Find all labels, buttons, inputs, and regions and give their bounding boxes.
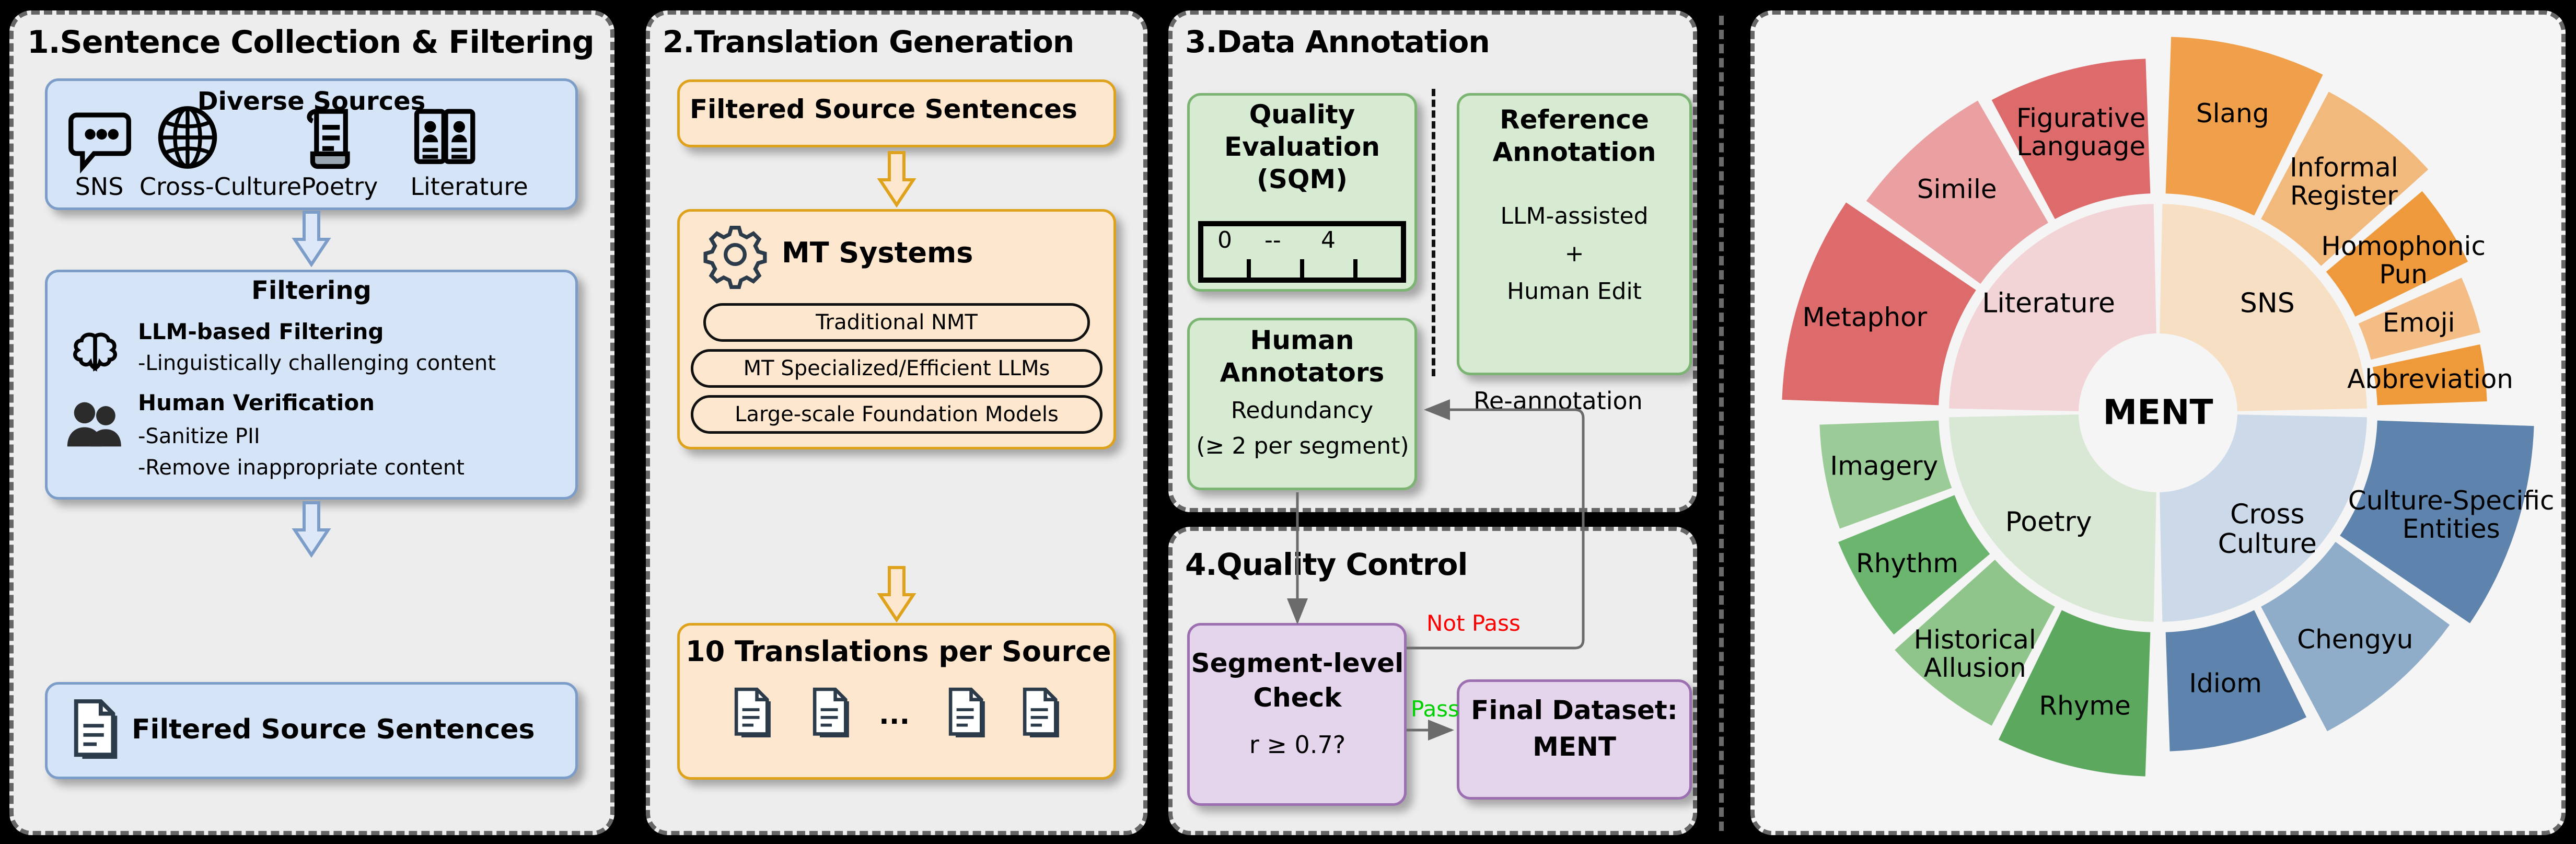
filtered-source-output-label: Filtered Source Sentences xyxy=(132,714,535,745)
reference-annotation-heading-0: Reference xyxy=(1457,105,1692,135)
document-icon-3 xyxy=(1018,686,1066,741)
sqm-scale-max: 4 xyxy=(1321,227,1336,253)
arrow-input-to-mt xyxy=(876,151,918,208)
quality-evaluation-heading-2: (SQM) xyxy=(1187,164,1417,194)
section-divider xyxy=(1719,16,1724,831)
sqm-scale-min: 0 xyxy=(1217,227,1232,253)
document-icon-2 xyxy=(944,686,992,741)
reference-annotation-body-0: LLM-assisted xyxy=(1457,203,1692,229)
mt-systems-heading: MT Systems xyxy=(782,236,973,269)
documents-icon xyxy=(68,697,125,763)
human-annotators-heading-0: Human xyxy=(1187,325,1417,355)
quality-evaluation-heading-0: Quality xyxy=(1187,99,1417,130)
sunburst-center-label: MENT xyxy=(2103,392,2213,432)
human-annotators-heading-1: Annotators xyxy=(1187,357,1417,388)
arrow-sources-to-filtering xyxy=(291,210,332,268)
sunburst-outer-label-10: Rhythm xyxy=(1856,548,1958,578)
sunburst-outer-label-7: Idiom xyxy=(2189,668,2262,698)
reference-annotation-body-2: Human Edit xyxy=(1457,278,1692,305)
arrow-filtering-to-output xyxy=(291,501,332,558)
human-verification-bullet-0: -Sanitize PII xyxy=(138,424,260,448)
source-label-literature: Literature xyxy=(396,172,542,201)
mt-system-pill-1[interactable]: MT Specialized/Efficient LLMs xyxy=(691,349,1103,388)
brain-icon xyxy=(71,332,119,377)
sunburst-inner-label-1: CrossCulture xyxy=(2218,499,2317,560)
sunburst-outer-label-12: Metaphor xyxy=(1803,302,1928,332)
human-verification-bullet-1: -Remove inappropriate content xyxy=(138,456,465,480)
panel-3-title: 3.Data Annotation xyxy=(1185,24,1490,60)
filtering-heading: Filtering xyxy=(251,278,372,304)
human-annotators-body-0: Redundancy xyxy=(1187,397,1417,424)
quality-evaluation-heading-1: Evaluation xyxy=(1187,132,1417,162)
reference-annotation-heading-1: Annotation xyxy=(1457,137,1692,167)
edge-label-pass: Pass xyxy=(1411,696,1459,722)
sunburst-inner-label-3: Literature xyxy=(1982,287,2115,319)
sunburst-outer-label-6: Chengyu xyxy=(2297,624,2413,654)
translations-ellipsis: ... xyxy=(879,699,910,731)
mt-system-pill-2[interactable]: Large-scale Foundation Models xyxy=(691,395,1103,434)
open-book-icon xyxy=(413,106,479,169)
sunburst-outer-label-8: Rhyme xyxy=(2039,690,2131,721)
human-verification-title: Human Verification xyxy=(138,390,375,415)
mt-system-pill-0[interactable]: Traditional NMT xyxy=(703,303,1090,342)
people-icon xyxy=(65,400,127,448)
reference-annotation-card xyxy=(1457,93,1692,375)
sunburst-chart: SNSCrossCulturePoetryLiteratureSlangInfo… xyxy=(1756,16,2560,831)
annotation-divider xyxy=(1432,89,1435,376)
source-label-sns: SNS xyxy=(57,172,141,201)
translation-input-label: Filtered Source Sentences xyxy=(690,94,1077,124)
panel-1-title: 1.Sentence Collection & Filtering xyxy=(27,24,594,61)
edge-label-not-pass: Not Pass xyxy=(1426,610,1521,636)
sunburst-inner-label-2: Poetry xyxy=(2005,506,2092,538)
globe-icon xyxy=(157,106,218,169)
sqm-scale-mid: -- xyxy=(1264,227,1281,253)
sunburst-outer-label-11: Imagery xyxy=(1830,450,1938,481)
sunburst-outer-label-3: Emoji xyxy=(2383,307,2455,338)
sunburst-outer-label-14: FigurativeLanguage xyxy=(2016,103,2146,161)
panel-2-title: 2.Translation Generation xyxy=(663,24,1074,60)
translations-output-label: 10 Translations per Source xyxy=(686,635,1111,668)
sunburst-outer-label-13: Simile xyxy=(1917,174,1997,204)
reference-annotation-body-1: + xyxy=(1457,240,1692,267)
llm-filtering-title: LLM-based Filtering xyxy=(138,319,384,344)
human-annotators-body-1: (≥ 2 per segment) xyxy=(1185,433,1420,459)
sunburst-outer-label-1: InformalRegister xyxy=(2290,152,2398,211)
sunburst-outer-label-9: HistoricalAllusion xyxy=(1914,625,2036,683)
document-icon-1 xyxy=(808,686,856,741)
source-label-poetry: Poetry xyxy=(287,172,392,201)
sunburst-outer-label-4: Abbreviation xyxy=(2347,364,2513,394)
figure-root: 1.Sentence Collection & Filtering Divers… xyxy=(0,0,2576,844)
document-icon-0 xyxy=(729,686,778,741)
llm-filtering-bullet-0: -Linguistically challenging content xyxy=(138,351,496,375)
gear-icon xyxy=(706,226,764,283)
sunburst-outer-label-0: Slang xyxy=(2196,98,2269,129)
source-label-cross-culture: Cross-Culture xyxy=(137,172,304,201)
chat-bubble-icon xyxy=(69,111,131,169)
scroll-icon xyxy=(299,106,357,169)
sunburst-inner-label-0: SNS xyxy=(2240,287,2295,319)
arrow-mt-to-output xyxy=(876,565,918,623)
